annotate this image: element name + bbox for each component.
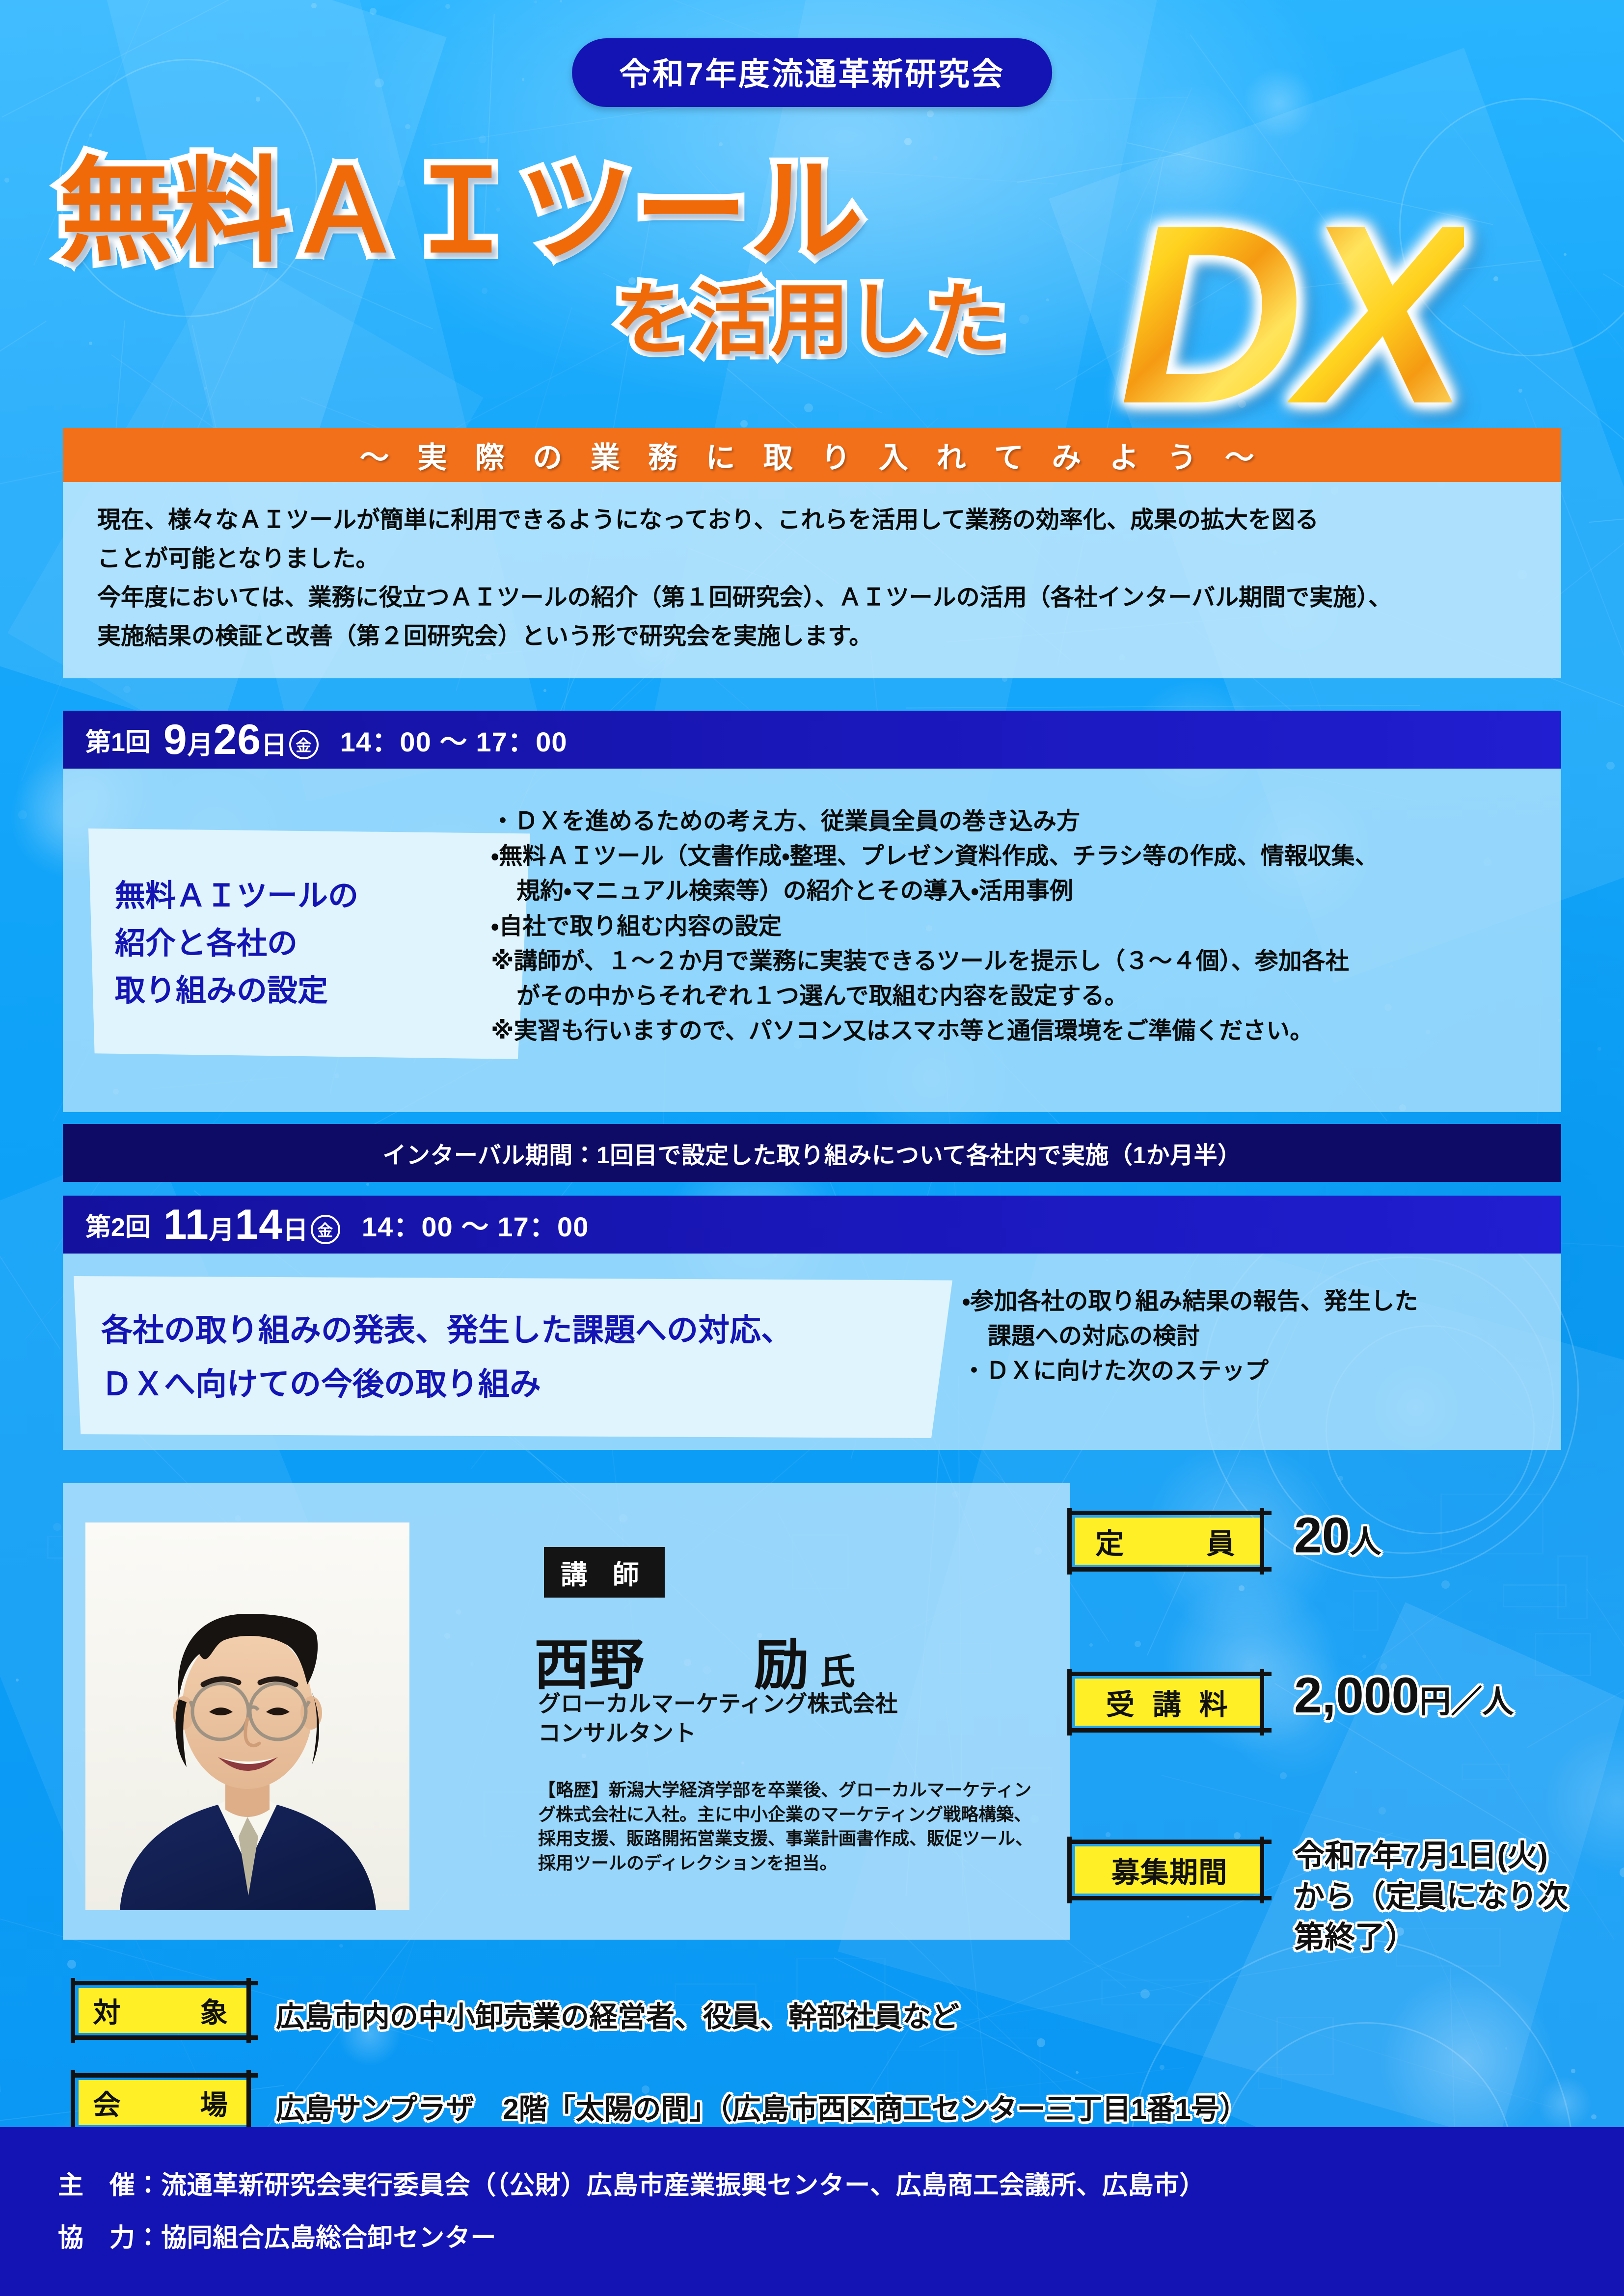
instructor-panel: 講 師 西野 励氏 グローカルマーケティング株式会社 コンサルタント 【略歴】新… bbox=[63, 1483, 1070, 1940]
intro-line-2: ことが可能となりました。 bbox=[97, 541, 1527, 577]
session-1-bullet-list: ・ＤＸを進めるための考え方、従業員全員の巻き込み方 ・無料ＡＩツール（文書作成・… bbox=[491, 805, 1532, 1049]
fee-tick-right bbox=[1260, 1669, 1264, 1735]
audience-tick-right bbox=[246, 1978, 251, 2043]
session-2-time: 14：00 ～ 17：00 bbox=[362, 1205, 589, 1245]
fee-tick-left bbox=[1067, 1669, 1072, 1735]
session-1-date: 9月26日金 bbox=[163, 716, 319, 764]
venue-tick-right bbox=[246, 2070, 251, 2135]
session-1-header: 第1回 9月26日金 14：00 ～ 17：00 bbox=[63, 711, 1561, 769]
application-period-key: 募集期間 bbox=[1075, 1846, 1264, 1894]
application-period-tick-left bbox=[1067, 1837, 1072, 1903]
session-1-time: 14：00 ～ 17：00 bbox=[340, 720, 568, 760]
session-2-bullet-list: ・参加各社の取り組み結果の報告、発生した 課題への対応の検討 ・ＤＸに向けた次の… bbox=[962, 1285, 1542, 1390]
capacity-value: 20人 bbox=[1294, 1507, 1381, 1564]
event-series-badge: 令和7年度流通革新研究会 bbox=[572, 38, 1052, 107]
instructor-photo bbox=[85, 1522, 409, 1910]
intro-line-4: 実施結果の検証と改善（第２回研究会）という形で研究会を実施します。 bbox=[97, 619, 1527, 655]
intro-panel: 現在、様々なＡＩツールが簡単に利用できるようになっており、これらを活用して業務の… bbox=[63, 482, 1561, 678]
capacity-key: 定 員 bbox=[1075, 1518, 1264, 1565]
session-1-number: 第1回 bbox=[85, 721, 151, 758]
venue-key: 会 場 bbox=[79, 2080, 250, 2125]
instructor-name: 西野 励氏 bbox=[534, 1621, 855, 1700]
intro-line-1: 現在、様々なＡＩツールが簡単に利用できるようになっており、これらを活用して業務の… bbox=[97, 503, 1527, 538]
intro-line-3: 今年度においては、業務に役立つＡＩツールの紹介（第１回研究会）、ＡＩツールの活用… bbox=[97, 580, 1527, 616]
instructor-bio: 【略歴】新潟大学経済学部を卒業後、グローカルマーケティング株式会社に入社。主に中… bbox=[538, 1778, 1044, 1875]
session-2-bullet-1: ・参加各社の取り組み結果の報告、発生した bbox=[962, 1285, 1542, 1318]
application-period-value: 令和7年7月1日(火) から（定員になり次 第終了） bbox=[1294, 1836, 1598, 1958]
venue-value: 広島サンプラザ 2階「太陽の間」（広島市西区商工センター三丁目1番1号） bbox=[276, 2086, 1248, 2127]
session-1-bullet-1: ・ＤＸを進めるための考え方、従業員全員の巻き込み方 bbox=[491, 805, 1532, 838]
tagline-bar: ～ 実 際 の 業 務 に 取 り 入 れ て み よ う ～ bbox=[63, 428, 1561, 482]
footer-cooperation: 協 力：協同組合広島総合卸センター bbox=[58, 2225, 1624, 2252]
session-1-dayofweek: 金 bbox=[289, 730, 319, 759]
session-1-note-2: ※実習も行いますので、パソコン又はスマホ等と通信環境をご準備ください。 bbox=[491, 1015, 1532, 1047]
session-2-topic-card: 各社の取り組みの発表、発生した課題への対応、 ＤＸへ向けての今後の取り組み bbox=[74, 1276, 952, 1438]
fee-key: 受 講 料 bbox=[1075, 1679, 1264, 1726]
session-2-header: 第2回 11月14日金 14：00 ～ 17：00 bbox=[63, 1196, 1561, 1254]
session-2-dayofweek: 金 bbox=[311, 1215, 340, 1244]
session-1-topic-line-1: 無料ＡＩツールの bbox=[115, 873, 504, 920]
session-1-bullet-2: ・無料ＡＩツール（文書作成・整理、プレゼン資料作成、チラシ等の作成、情報収集、 bbox=[491, 840, 1532, 873]
session-1-topic-line-3: 取り組みの設定 bbox=[115, 967, 504, 1015]
fee-value: 2,000円／人 bbox=[1294, 1667, 1514, 1724]
session-2-bullet-2: ・ＤＸに向けた次のステップ bbox=[962, 1355, 1542, 1388]
session-2-number: 第2回 bbox=[85, 1206, 151, 1243]
interval-period-bar: インターバル期間：1回目で設定した取り組みについて各社内で実施（1か月半） bbox=[63, 1124, 1561, 1182]
instructor-role: コンサルタント bbox=[538, 1719, 897, 1748]
capacity-tick-left bbox=[1067, 1508, 1072, 1575]
session-2-bullet-1-cont: 課題への対応の検討 bbox=[962, 1320, 1542, 1353]
session-1-topic-line-2: 紹介と各社の bbox=[115, 920, 504, 968]
application-period-line-3: 第終了） bbox=[1294, 1917, 1598, 1958]
flyer-page: 令和7年度流通革新研究会 無料ＡＩツール を活用した DX ～ 実 際 の 業 … bbox=[0, 0, 1624, 2296]
footer-organizer: 主 催：流通革新研究会実行委員会（（公財）広島市産業振興センター、広島商工会議所… bbox=[58, 2172, 1624, 2199]
audience-value: 広島市内の中小卸売業の経営者、役員、幹部社員など bbox=[276, 1994, 959, 2035]
headline-line2: を活用した bbox=[614, 256, 1006, 370]
audience-tick-left bbox=[71, 1978, 75, 2043]
session-2-date: 11月14日金 bbox=[163, 1201, 340, 1249]
venue-tick-left bbox=[71, 2070, 75, 2135]
headline-dx: DX bbox=[1119, 202, 1464, 427]
session-1-bullet-3: ・自社で取り組む内容の設定 bbox=[491, 910, 1532, 943]
session-2-topic-line-1: 各社の取り組みの発表、発生した課題への対応、 bbox=[101, 1303, 925, 1357]
footer: 主 催：流通革新研究会実行委員会（（公財）広島市産業振興センター、広島商工会議所… bbox=[0, 2127, 1624, 2296]
application-period-line-2: から（定員になり次 bbox=[1294, 1876, 1598, 1917]
instructor-badge: 講 師 bbox=[544, 1547, 665, 1598]
session-1-topic-card: 無料ＡＩツールの 紹介と各社の 取り組みの設定 bbox=[88, 828, 530, 1059]
capacity-tick-right bbox=[1260, 1508, 1264, 1575]
session-1-bullet-2-cont: 規約・マニュアル検索等）の紹介とその導入・活用事例 bbox=[491, 875, 1532, 908]
application-period-tick-right bbox=[1260, 1837, 1264, 1903]
audience-key: 対 象 bbox=[79, 1988, 250, 2033]
headline-group: 無料ＡＩツール を活用した DX bbox=[0, 109, 1624, 394]
session-1-note-1: ※講師が、１～２か月で業務に実装できるツールを提示し（３～４個）、参加各社 bbox=[491, 945, 1532, 978]
instructor-company: グローカルマーケティング株式会社 bbox=[538, 1689, 897, 1719]
session-2-topic-line-2: ＤＸへ向けての今後の取り組み bbox=[101, 1357, 925, 1411]
instructor-affiliation: グローカルマーケティング株式会社 コンサルタント bbox=[538, 1689, 897, 1748]
session-1-note-1-cont: がその中からそれぞれ１つ選んで取組む内容を設定する。 bbox=[491, 980, 1532, 1013]
application-period-line-1: 令和7年7月1日(火) bbox=[1294, 1836, 1598, 1876]
